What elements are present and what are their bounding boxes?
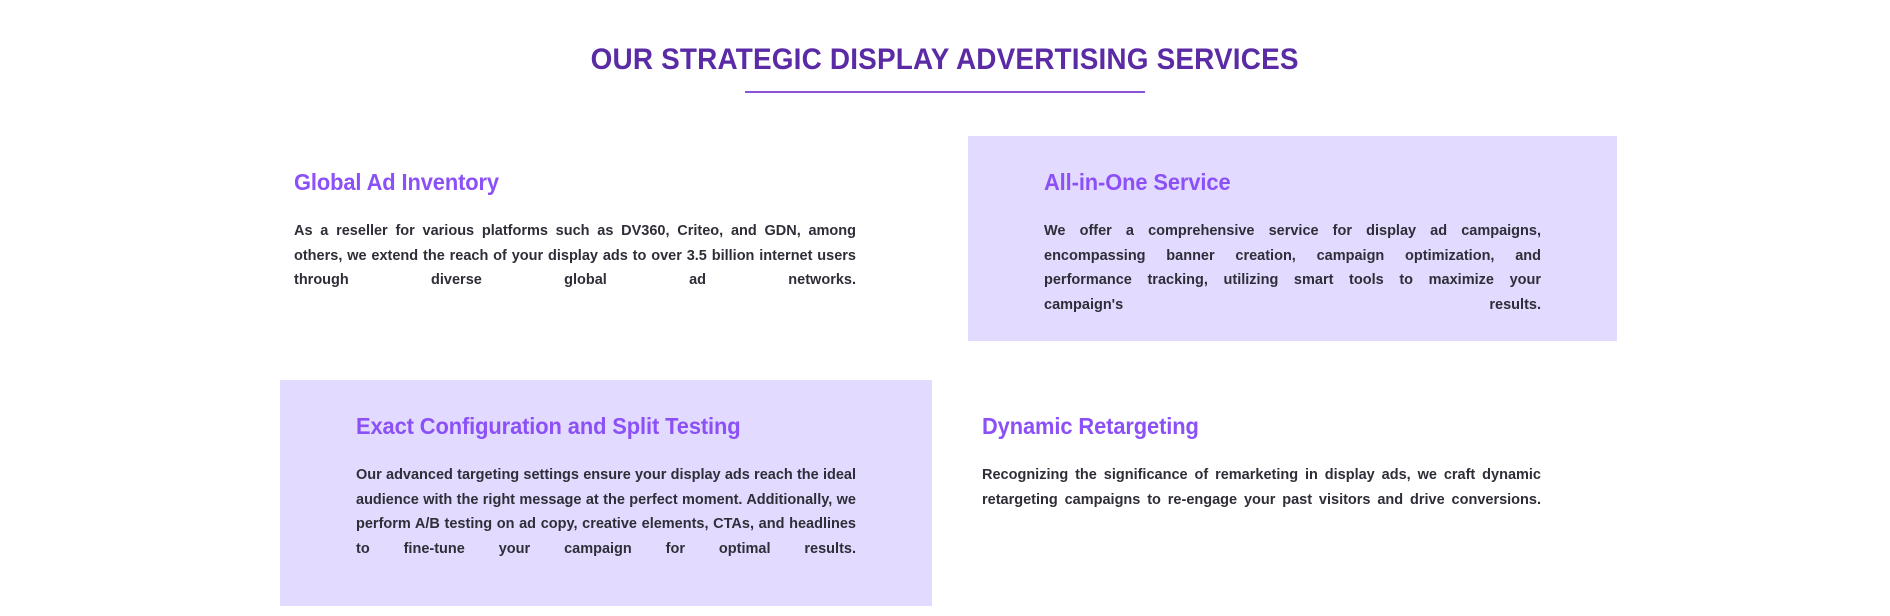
card-content: Exact Configuration and Split Testing Ou… <box>280 380 932 616</box>
service-card-all-in-one-service[interactable]: All-in-One Service We offer a comprehens… <box>968 136 1617 341</box>
card-content: Global Ad Inventory As a reseller for va… <box>280 136 932 347</box>
card-title: Exact Configuration and Split Testing <box>356 412 831 440</box>
services-card-grid: Global Ad Inventory As a reseller for va… <box>280 136 1617 606</box>
title-underline-rule <box>745 91 1145 93</box>
card-body-text: Our advanced targeting settings ensure y… <box>356 463 856 586</box>
section-header: OUR STRATEGIC DISPLAY ADVERTISING SERVIC… <box>0 42 1890 93</box>
card-title: All-in-One Service <box>1044 168 1516 196</box>
card-body-text: As a reseller for various platforms such… <box>294 219 856 317</box>
card-content: Dynamic Retargeting Recognizing the sign… <box>968 380 1617 567</box>
card-body-text: Recognizing the significance of remarket… <box>982 463 1541 537</box>
card-content: All-in-One Service We offer a comprehens… <box>968 136 1617 372</box>
service-card-exact-configuration-and-split-testing[interactable]: Exact Configuration and Split Testing Ou… <box>280 380 932 606</box>
card-title: Global Ad Inventory <box>294 168 828 196</box>
card-body-text: We offer a comprehensive service for dis… <box>1044 219 1541 342</box>
services-section: OUR STRATEGIC DISPLAY ADVERTISING SERVIC… <box>0 0 1890 606</box>
service-card-global-ad-inventory[interactable]: Global Ad Inventory As a reseller for va… <box>280 136 932 341</box>
card-title: Dynamic Retargeting <box>982 412 1513 440</box>
page-title: OUR STRATEGIC DISPLAY ADVERTISING SERVIC… <box>591 42 1299 78</box>
service-card-dynamic-retargeting[interactable]: Dynamic Retargeting Recognizing the sign… <box>968 380 1617 606</box>
